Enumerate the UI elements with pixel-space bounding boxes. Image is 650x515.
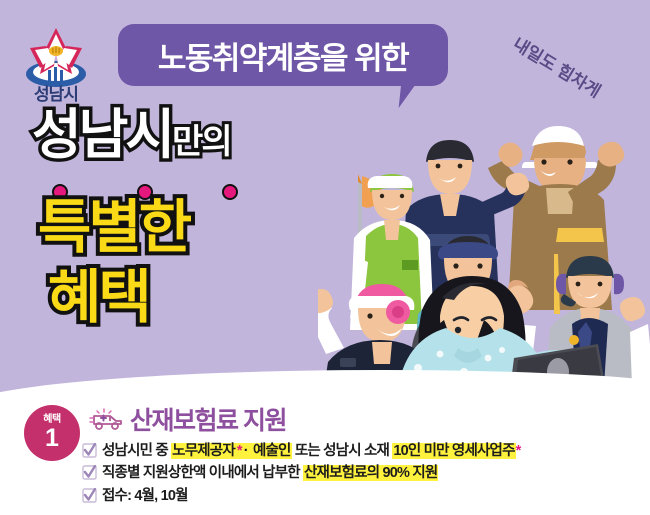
poster-canvas: 성남시 노동취약계층을 위한 성남시만의 특별한 혜택 내일도 힘차게	[0, 0, 650, 515]
list-item: 접수: 4월, 10월	[82, 485, 642, 507]
benefit-badge-number: 1	[45, 426, 59, 451]
benefit-badge: 혜택 1	[24, 405, 80, 461]
workers-illustration	[318, 58, 650, 388]
headline-benefit-text: 혜택	[48, 265, 149, 330]
check-icon	[82, 443, 97, 458]
bullet-text: 직종별 지원상한액 이내에서 납부한 산재보험료의 90% 지원	[102, 462, 438, 484]
list-item: 성남시민 중 노무제공자*· 예술인 또는 성남시 소재 10인 미만 영세사업…	[82, 440, 642, 462]
headline-line-1: 성남시만의	[32, 108, 362, 162]
logo-label: 성남시	[14, 80, 98, 105]
headline-suffix-text: 만의	[172, 123, 231, 161]
bullet-text: 접수: 4월, 10월	[102, 485, 188, 507]
benefit-title: 산재보험료 지원	[130, 401, 286, 437]
headline-main-text: 성남시	[32, 105, 172, 165]
check-icon	[82, 488, 97, 503]
dot-icon	[222, 184, 238, 200]
check-icon	[82, 465, 97, 480]
ambulance-icon	[88, 404, 128, 434]
headline-special-text: 특별한	[38, 195, 189, 260]
benefit-bullet-list: 성남시민 중 노무제공자*· 예술인 또는 성남시 소재 10인 미만 영세사업…	[82, 440, 642, 507]
headline: 성남시만의	[32, 108, 362, 162]
list-item: 직종별 지원상한액 이내에서 납부한 산재보험료의 90% 지원	[82, 462, 642, 484]
headline-line-2: 특별한	[38, 198, 189, 258]
headline-line-3: 혜택	[48, 268, 149, 328]
bullet-text: 성남시민 중 노무제공자*· 예술인 또는 성남시 소재 10인 미만 영세사업…	[102, 440, 520, 462]
